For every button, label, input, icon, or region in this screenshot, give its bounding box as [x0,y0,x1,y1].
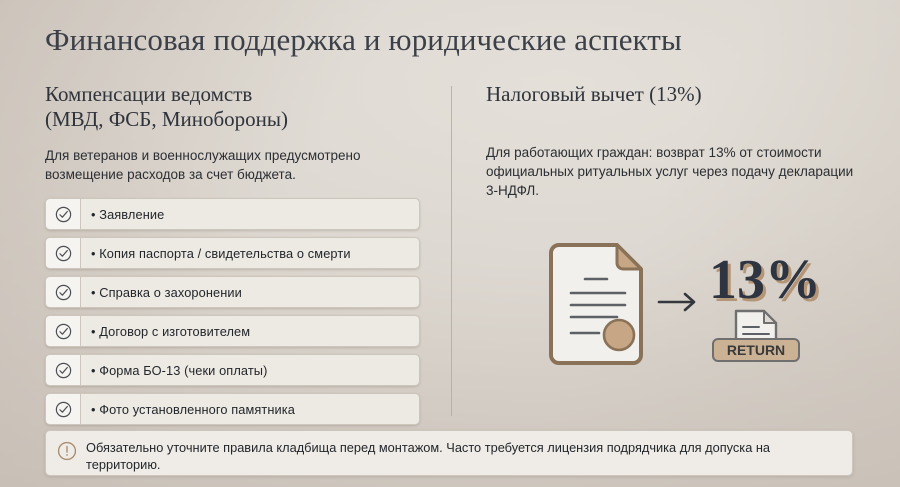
list-item-label: • Справка о захоронении [81,277,419,307]
list-item-label: • Копия паспорта / свидетельства о смерт… [81,238,419,268]
left-column-lead: Для ветеранов и военнослужащих предусмот… [45,146,425,184]
list-item[interactable]: • Копия паспорта / свидетельства о смерт… [45,237,420,269]
return-badge-label: RETURN [727,342,785,358]
list-item[interactable]: • Фото установленного памятника [45,393,420,425]
left-heading-line-1: Компенсации ведомств [45,82,425,107]
percent-value: 13% 13% [709,249,824,314]
right-column-lead: Для работающих граждан: возврат 13% от с… [486,143,856,200]
check-circle-icon [46,355,81,385]
warning-note-text: Обязательно уточните правила кладбища пе… [82,439,840,473]
right-column-heading: Налоговый вычет (13%) [486,82,856,107]
slide-canvas: Финансовая поддержка и юридические аспек… [0,0,900,487]
list-item[interactable]: • Заявление [45,198,420,230]
check-circle-icon [46,199,81,229]
warning-note: Обязательно уточните правила кладбища пе… [45,430,853,476]
left-column: Компенсации ведомств (МВД, ФСБ, Миноборо… [45,82,425,432]
left-heading-line-2: (МВД, ФСБ, Минобороны) [45,107,425,132]
check-circle-icon [46,238,81,268]
page-title: Финансовая поддержка и юридические аспек… [45,21,682,59]
column-divider [451,86,452,416]
check-circle-icon [46,277,81,307]
arrow-right-icon [659,294,694,310]
document-checklist: • Заявление • Копия паспорта / свидетель… [45,198,425,425]
list-item-label: • Заявление [81,199,419,229]
list-item-label: • Форма БО-13 (чеки оплаты) [81,355,419,385]
svg-text:13%: 13% [709,249,821,311]
check-circle-icon [46,394,81,424]
return-badge: RETURN [713,339,799,361]
list-item-label: • Договор с изготовителем [81,316,419,346]
document-with-seal-icon [551,245,641,363]
right-column: Налоговый вычет (13%) Для работающих гра… [486,82,856,200]
list-item[interactable]: • Справка о захоронении [45,276,420,308]
left-column-heading: Компенсации ведомств (МВД, ФСБ, Миноборо… [45,82,425,132]
list-item[interactable]: • Договор с изготовителем [45,315,420,347]
tax-deduction-illustration: 13% 13% RETURN [545,235,845,370]
list-item[interactable]: • Форма БО-13 (чеки оплаты) [45,354,420,386]
exclamation-circle-icon [56,440,82,462]
check-circle-icon [46,316,81,346]
list-item-label: • Фото установленного памятника [81,394,419,424]
